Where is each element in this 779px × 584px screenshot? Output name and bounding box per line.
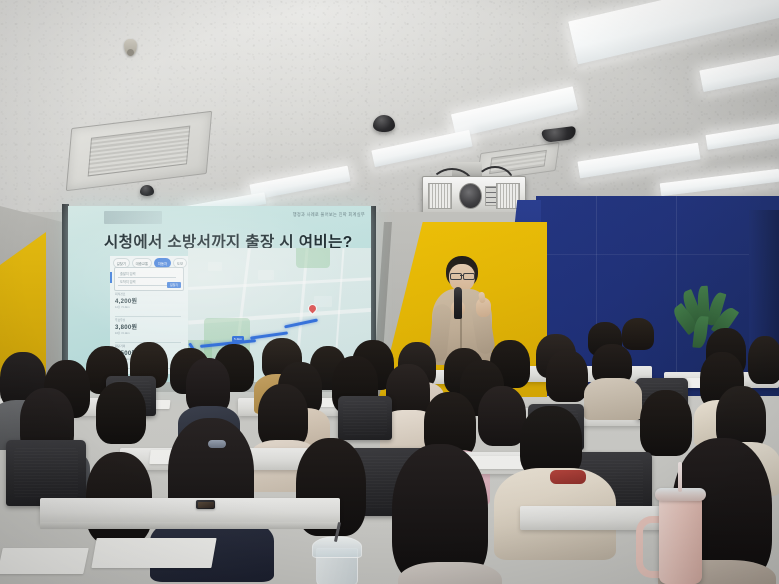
attendee-hair	[748, 336, 779, 384]
ceiling-projector	[422, 176, 526, 214]
thumb	[478, 292, 485, 304]
chair	[6, 440, 86, 506]
attendee-top	[584, 378, 642, 420]
pink-tumbler	[659, 498, 702, 584]
slide-logo-placeholder	[104, 211, 162, 224]
desk-edge	[40, 522, 340, 529]
smartphone-on-desk[interactable]	[196, 500, 215, 509]
map-building	[314, 296, 332, 307]
map-search-button[interactable]: 길찾기	[167, 282, 181, 288]
map-building	[208, 262, 222, 271]
map-distance-badge: 5.4km	[232, 336, 244, 342]
projector-vent	[428, 183, 452, 209]
attendee-hair	[640, 390, 692, 456]
hair-tie	[208, 440, 226, 448]
microphone	[454, 287, 462, 319]
origin-input[interactable]: 출발지 입력	[118, 271, 176, 278]
ac-grille	[87, 125, 190, 176]
glasses-bridge	[460, 275, 464, 276]
attendee-hair	[96, 382, 146, 444]
collar-red	[550, 470, 586, 484]
attendee-hair	[546, 350, 588, 402]
lecture-hall-photo: 행정과 사례로 풀어보는 진짜 회계실무 시청에서 소방서까지 출장 시 여비는…	[0, 0, 779, 584]
route-result-item[interactable]: 최적경로 4,200원 12분 / 5.4km	[115, 292, 181, 317]
chair	[338, 396, 392, 440]
route-sub: 16분 / 6.1km	[115, 331, 181, 335]
route-sub: 12분 / 5.4km	[115, 305, 181, 309]
slide-header-note: 행정과 사례로 풀어보는 진짜 회계실무	[293, 212, 365, 219]
route-price: 4,200원	[115, 296, 181, 305]
map-road	[188, 277, 371, 290]
dome-cctv-camera	[373, 115, 395, 132]
handout-paper	[0, 548, 89, 574]
handout-paper	[91, 538, 216, 568]
route-price: 3,800원	[115, 322, 181, 331]
attendee-top	[398, 562, 502, 584]
map-park-area	[296, 248, 330, 268]
attendee-hair	[478, 386, 526, 446]
map-search-box: 출발지 입력 도착지 입력 길찾기	[114, 267, 184, 291]
map-building	[258, 270, 274, 280]
route-accent-bar	[110, 272, 112, 283]
wall-seam	[536, 254, 779, 255]
attendee-hair	[258, 384, 308, 448]
dome-cctv-camera	[140, 185, 154, 196]
route-result-item[interactable]: 무료우선 3,800원 16분 / 6.1km	[115, 318, 181, 343]
attendee-hair	[622, 318, 654, 350]
projector-lens	[459, 183, 482, 209]
tumbler-straw	[678, 462, 682, 492]
glasses-icon	[463, 273, 475, 280]
desk	[40, 498, 340, 524]
projector-vent	[496, 183, 520, 209]
